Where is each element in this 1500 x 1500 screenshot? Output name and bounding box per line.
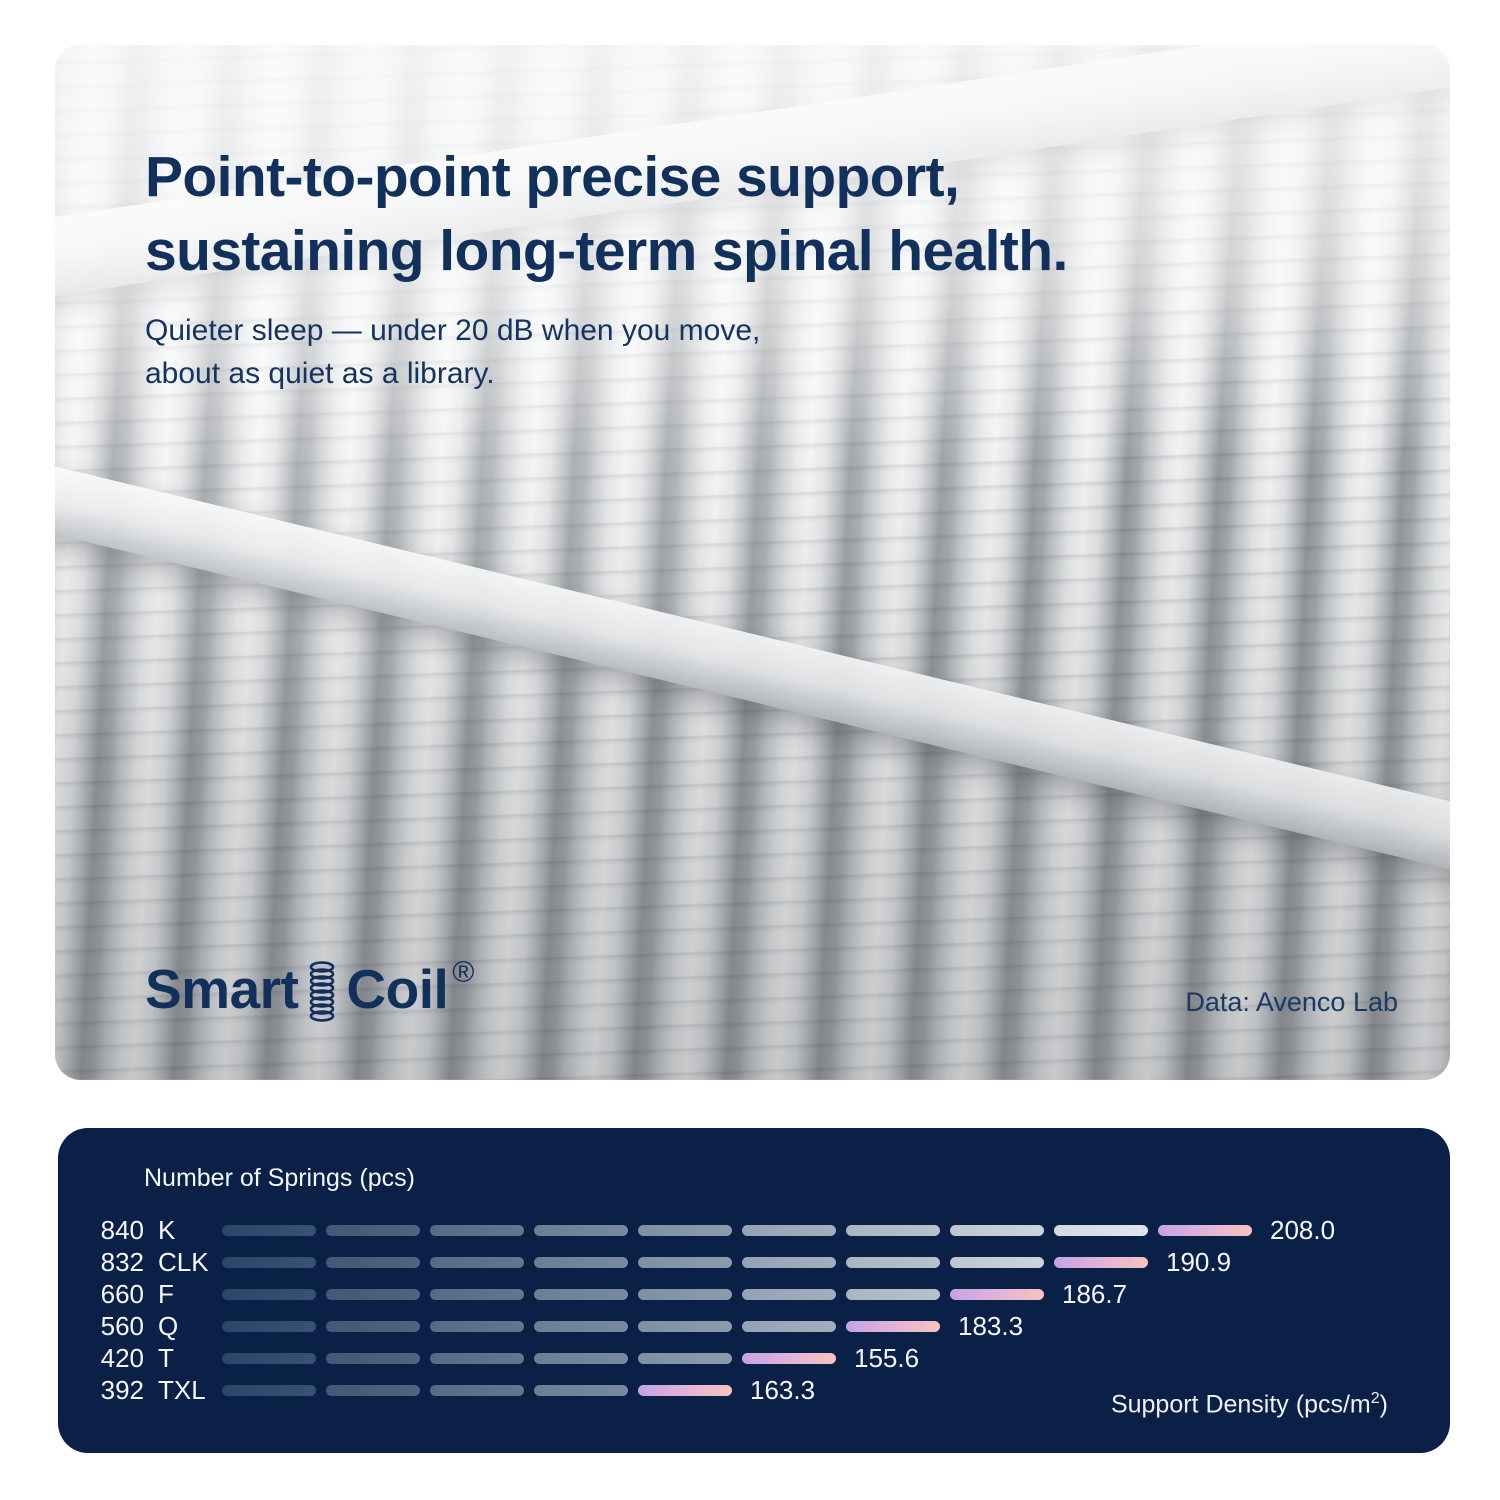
row-value-label: 155.6	[854, 1343, 919, 1374]
row-segment	[430, 1225, 524, 1236]
hero-copy-block: Point-to-point precise support, sustaini…	[145, 140, 1385, 395]
row-segment	[430, 1353, 524, 1364]
row-segment-track	[222, 1257, 1148, 1268]
row-segment	[742, 1257, 836, 1268]
x-axis-title: Support Density (pcs/m2)	[1111, 1390, 1388, 1419]
row-value-label: 190.9	[1166, 1247, 1231, 1278]
row-segment	[742, 1321, 836, 1332]
row-segment	[222, 1257, 316, 1268]
row-spring-count: 832	[58, 1247, 144, 1278]
x-axis-title-suffix: )	[1380, 1390, 1388, 1418]
row-segment	[222, 1225, 316, 1236]
row-segment-highlight	[1158, 1225, 1252, 1236]
data-source-credit: Data: Avenco Lab	[1185, 987, 1398, 1018]
row-segment-highlight	[742, 1353, 836, 1364]
row-segment	[222, 1353, 316, 1364]
row-segment	[846, 1225, 940, 1236]
row-segment	[534, 1385, 628, 1396]
row-segment	[222, 1321, 316, 1332]
row-segment	[534, 1353, 628, 1364]
row-segment	[222, 1289, 316, 1300]
row-segment	[534, 1225, 628, 1236]
row-segment	[430, 1321, 524, 1332]
row-value-label: 183.3	[958, 1311, 1023, 1342]
row-segment	[742, 1225, 836, 1236]
row-value-label: 186.7	[1062, 1279, 1127, 1310]
row-segment	[326, 1289, 420, 1300]
row-spring-count: 840	[58, 1215, 144, 1246]
row-value-label: 208.0	[1270, 1215, 1335, 1246]
row-value-label: 163.3	[750, 1375, 815, 1406]
row-segment	[534, 1257, 628, 1268]
row-size-label: F	[144, 1279, 222, 1310]
row-segment-track	[222, 1289, 1044, 1300]
x-axis-title-superscript: 2	[1371, 1390, 1380, 1407]
row-segment	[326, 1257, 420, 1268]
row-segment	[846, 1289, 940, 1300]
y-axis-title: Number of Springs (pcs)	[144, 1164, 415, 1193]
chart-row: 560Q183.3	[58, 1310, 1450, 1342]
row-segment-track	[222, 1321, 940, 1332]
row-spring-count: 392	[58, 1375, 144, 1406]
marketing-infographic-page: Point-to-point precise support, sustaini…	[0, 0, 1500, 1500]
chart-row: 840K208.0	[58, 1214, 1450, 1246]
smart-coil-logo: Smart Coil ®	[145, 962, 474, 1022]
chart-row: 832CLK190.9	[58, 1246, 1450, 1278]
row-segment	[950, 1225, 1044, 1236]
coil-spring-icon	[307, 960, 337, 1022]
row-segment	[534, 1289, 628, 1300]
row-spring-count: 660	[58, 1279, 144, 1310]
row-size-label: K	[144, 1215, 222, 1246]
row-segment	[534, 1321, 628, 1332]
logo-word-smart: Smart	[145, 962, 298, 1017]
row-segment	[326, 1225, 420, 1236]
row-segment-highlight	[846, 1321, 940, 1332]
row-segment	[222, 1385, 316, 1396]
row-segment-highlight	[950, 1289, 1044, 1300]
row-size-label: Q	[144, 1311, 222, 1342]
row-size-label: CLK	[144, 1247, 222, 1278]
row-segment	[638, 1289, 732, 1300]
row-size-label: TXL	[144, 1375, 222, 1406]
row-segment	[638, 1321, 732, 1332]
row-segment-track	[222, 1225, 1252, 1236]
row-segment	[638, 1353, 732, 1364]
chart-row-list: 840K208.0832CLK190.9660F186.7560Q183.342…	[58, 1214, 1450, 1406]
row-segment	[430, 1257, 524, 1268]
row-segment-highlight	[1054, 1257, 1148, 1268]
subheadline: Quieter sleep — under 20 dB when you mov…	[145, 310, 1385, 395]
row-segment	[638, 1257, 732, 1268]
hero-photo-card: Point-to-point precise support, sustaini…	[55, 45, 1450, 1080]
row-size-label: T	[144, 1343, 222, 1374]
row-segment	[326, 1321, 420, 1332]
logo-word-coil: Coil	[346, 962, 448, 1017]
x-axis-title-prefix: Support Density (pcs/m	[1111, 1390, 1371, 1418]
row-spring-count: 420	[58, 1343, 144, 1374]
row-segment	[326, 1385, 420, 1396]
row-segment-track	[222, 1353, 836, 1364]
chart-row: 660F186.7	[58, 1278, 1450, 1310]
row-segment	[430, 1289, 524, 1300]
row-segment-track	[222, 1385, 732, 1396]
row-segment	[326, 1353, 420, 1364]
row-segment	[1054, 1225, 1148, 1236]
headline: Point-to-point precise support, sustaini…	[145, 140, 1385, 288]
registered-trademark-icon: ®	[452, 958, 474, 988]
row-segment	[846, 1257, 940, 1268]
row-segment	[950, 1257, 1044, 1268]
row-segment-highlight	[638, 1385, 732, 1396]
row-segment	[638, 1225, 732, 1236]
row-spring-count: 560	[58, 1311, 144, 1342]
row-segment	[742, 1289, 836, 1300]
chart-row: 420T155.6	[58, 1342, 1450, 1374]
support-density-chart-panel: Number of Springs (pcs) 840K208.0832CLK1…	[58, 1128, 1450, 1453]
row-segment	[430, 1385, 524, 1396]
